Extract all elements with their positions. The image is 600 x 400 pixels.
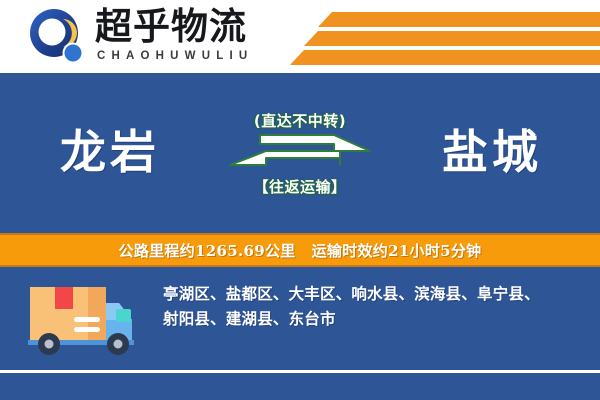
route-display-section: 龙岩 (直达不中转) 【往返运输】 盐城 bbox=[0, 73, 600, 235]
logistics-route-banner: 超乎物流 CHAOHUWULIU 龙岩 (直达不中转) bbox=[0, 0, 600, 400]
route-info-bar: 公路里程约1265.69公里运输时效约21小时5分钟 bbox=[0, 235, 600, 265]
info-bar-content: 公路里程约1265.69公里运输时效约21小时5分钟 bbox=[119, 240, 482, 261]
brand-name-cn: 超乎物流 bbox=[95, 6, 253, 48]
destination-city-label: 盐城 bbox=[442, 123, 542, 181]
bidirectional-arrow-icon bbox=[210, 131, 390, 173]
route-arrow-block: (直达不中转) 【往返运输】 bbox=[210, 111, 390, 197]
coverage-line-2: 射阳县、建湖县、东台市 bbox=[163, 306, 583, 331]
brand-name-en: CHAOHUWULIU bbox=[95, 48, 253, 64]
circle-crescent-logo-icon bbox=[28, 8, 86, 66]
coverage-area-list: 亭湖区、盐都区、大丰区、响水县、滨海县、阜宁县、 射阳县、建湖县、东台市 bbox=[163, 281, 583, 331]
duration-text: 运输时效约21小时5分钟 bbox=[312, 242, 482, 260]
origin-city-label: 龙岩 bbox=[60, 123, 160, 181]
coverage-section: 亭湖区、盐都区、大丰区、响水县、滨海县、阜宁县、 射阳县、建湖县、东台市 bbox=[0, 267, 600, 370]
header-bar: 超乎物流 CHAOHUWULIU bbox=[0, 0, 600, 73]
round-trip-note: 【往返运输】 bbox=[210, 177, 390, 197]
speed-stripes-decoration bbox=[290, 0, 600, 73]
distance-text: 公路里程约1265.69公里 bbox=[119, 242, 296, 260]
direct-shipping-note: (直达不中转) bbox=[210, 111, 390, 131]
brand-text-block: 超乎物流 CHAOHUWULIU bbox=[95, 6, 253, 64]
footer-strip bbox=[0, 373, 600, 400]
delivery-truck-icon bbox=[22, 279, 140, 357]
coverage-line-1: 亭湖区、盐都区、大丰区、响水县、滨海县、阜宁县、 bbox=[163, 281, 583, 306]
